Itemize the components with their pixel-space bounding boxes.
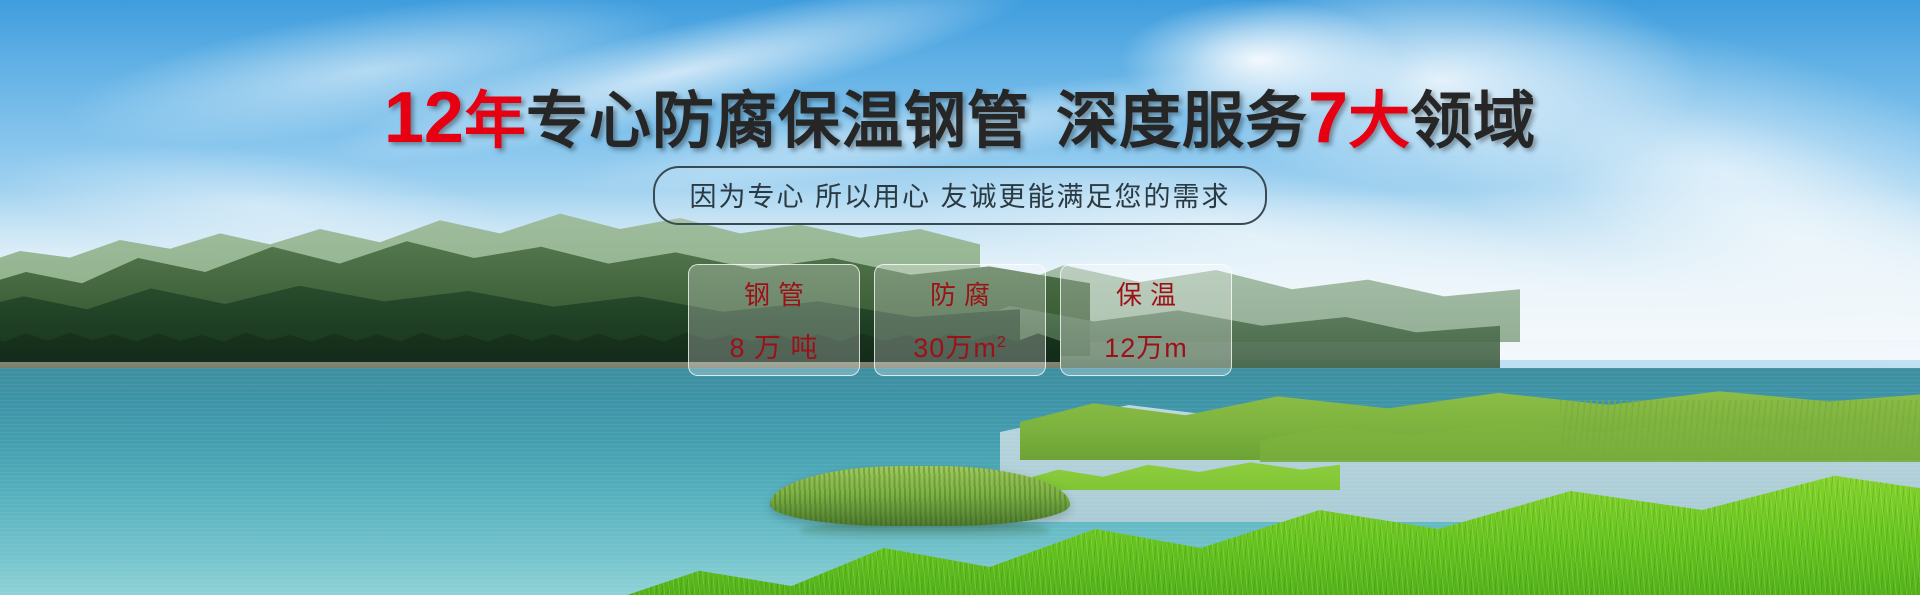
subtitle-pill: 因为专心 所以用心 友诚更能满足您的需求 [653,166,1266,225]
headline-fields-text: 领域 [1410,87,1536,156]
stat-card-steel-pipe[interactable]: 钢管 8 万 吨 [688,264,860,376]
stat-card-value: 8 万 吨 [729,326,818,365]
stat-card-value-text: 8 万 吨 [729,333,818,363]
stat-card-value-text: 12万m [1104,333,1188,363]
stat-card-title: 保温 [1108,275,1184,312]
stat-card-value: 30万m2 [913,326,1006,365]
headline-fields-number: 7 [1308,78,1348,158]
headline-service-text: 深度服务 [1056,87,1308,156]
subtitle-container: 因为专心 所以用心 友诚更能满足您的需求 [0,166,1920,225]
headline-main-text: 专心防腐保温钢管 [526,87,1030,156]
headline: 12年专心防腐保温钢管深度服务7大领域 [0,82,1920,154]
stat-card-value-sup: 2 [997,334,1007,351]
text-overlay: 12年专心防腐保温钢管深度服务7大领域 因为专心 所以用心 友诚更能满足您的需求… [0,0,1920,595]
headline-years-number: 12 [384,78,464,158]
stat-card-insulation[interactable]: 保温 12万m [1060,264,1232,376]
stat-card-title: 钢管 [736,275,812,312]
stat-card-title: 防腐 [922,275,998,312]
hero-banner: 12年专心防腐保温钢管深度服务7大领域 因为专心 所以用心 友诚更能满足您的需求… [0,0,1920,595]
stat-card-list: 钢管 8 万 吨 防腐 30万m2 保温 12万m [0,264,1920,376]
stat-card-value: 12万m [1104,326,1188,365]
headline-fields-unit: 大 [1348,87,1410,156]
stat-card-anticorrosion[interactable]: 防腐 30万m2 [874,264,1046,376]
headline-years-unit: 年 [464,87,526,156]
stat-card-value-text: 30万m [913,333,997,363]
